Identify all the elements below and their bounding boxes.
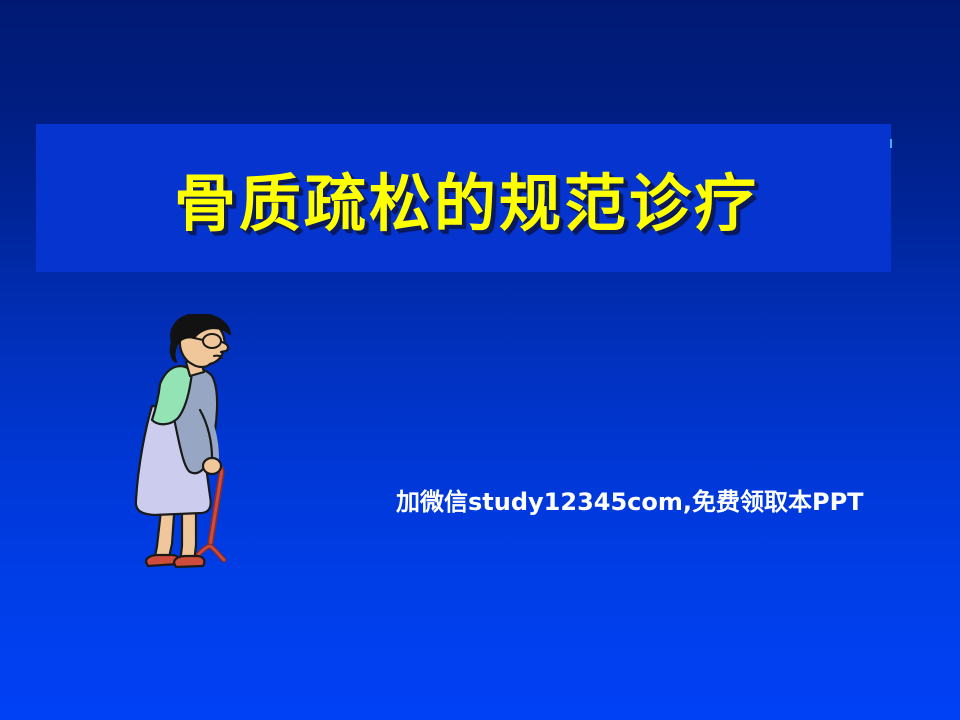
page-title: 骨质疏松的规范诊疗 <box>36 124 891 272</box>
elderly-woman-figure-icon <box>124 314 248 584</box>
elderly-woman-with-cane-illustration <box>124 314 248 584</box>
slide-canvas: 骨质疏松的规范诊疗 <box>0 0 960 720</box>
subtitle-text: 加微信study12345com,免费领取本PPT <box>396 482 864 517</box>
